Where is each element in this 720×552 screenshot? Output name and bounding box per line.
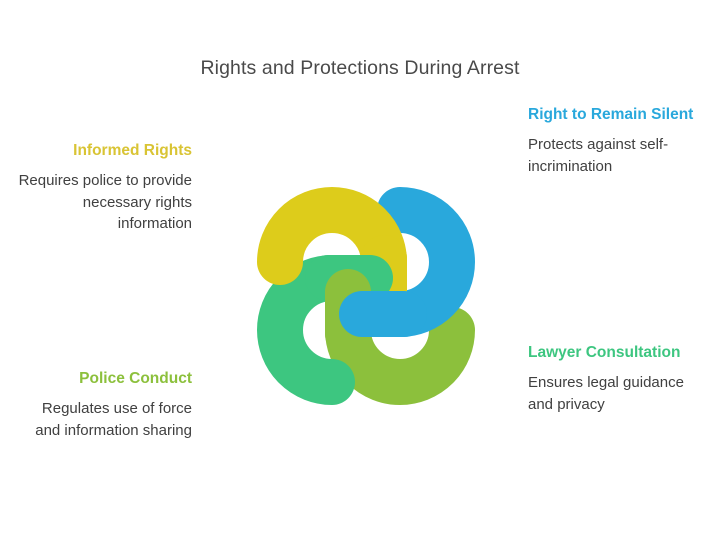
callout-heading-police-conduct: Police Conduct bbox=[14, 369, 192, 389]
callout-lawyer-consultation: Lawyer Consultation Ensures legal guidan… bbox=[528, 343, 706, 415]
callout-heading-lawyer-consultation: Lawyer Consultation bbox=[528, 343, 706, 363]
callout-remain-silent: Right to Remain Silent Protects against … bbox=[528, 105, 706, 177]
interlocking-knot-graphic bbox=[220, 150, 512, 442]
callout-police-conduct: Police Conduct Regulates use of force an… bbox=[14, 369, 192, 441]
page-title: Rights and Protections During Arrest bbox=[0, 57, 720, 80]
callout-body-informed-rights: Requires police to provide necessary rig… bbox=[14, 170, 192, 234]
callout-informed-rights: Informed Rights Requires police to provi… bbox=[14, 141, 192, 234]
callout-body-remain-silent: Protects against self-incrimination bbox=[528, 134, 706, 177]
callout-body-lawyer-consultation: Ensures legal guidance and privacy bbox=[528, 372, 706, 415]
callout-heading-remain-silent: Right to Remain Silent bbox=[528, 105, 706, 125]
infographic-canvas: Rights and Protections During Arrest bbox=[0, 0, 720, 552]
callout-heading-informed-rights: Informed Rights bbox=[14, 141, 192, 161]
callout-body-police-conduct: Regulates use of force and information s… bbox=[14, 398, 192, 441]
